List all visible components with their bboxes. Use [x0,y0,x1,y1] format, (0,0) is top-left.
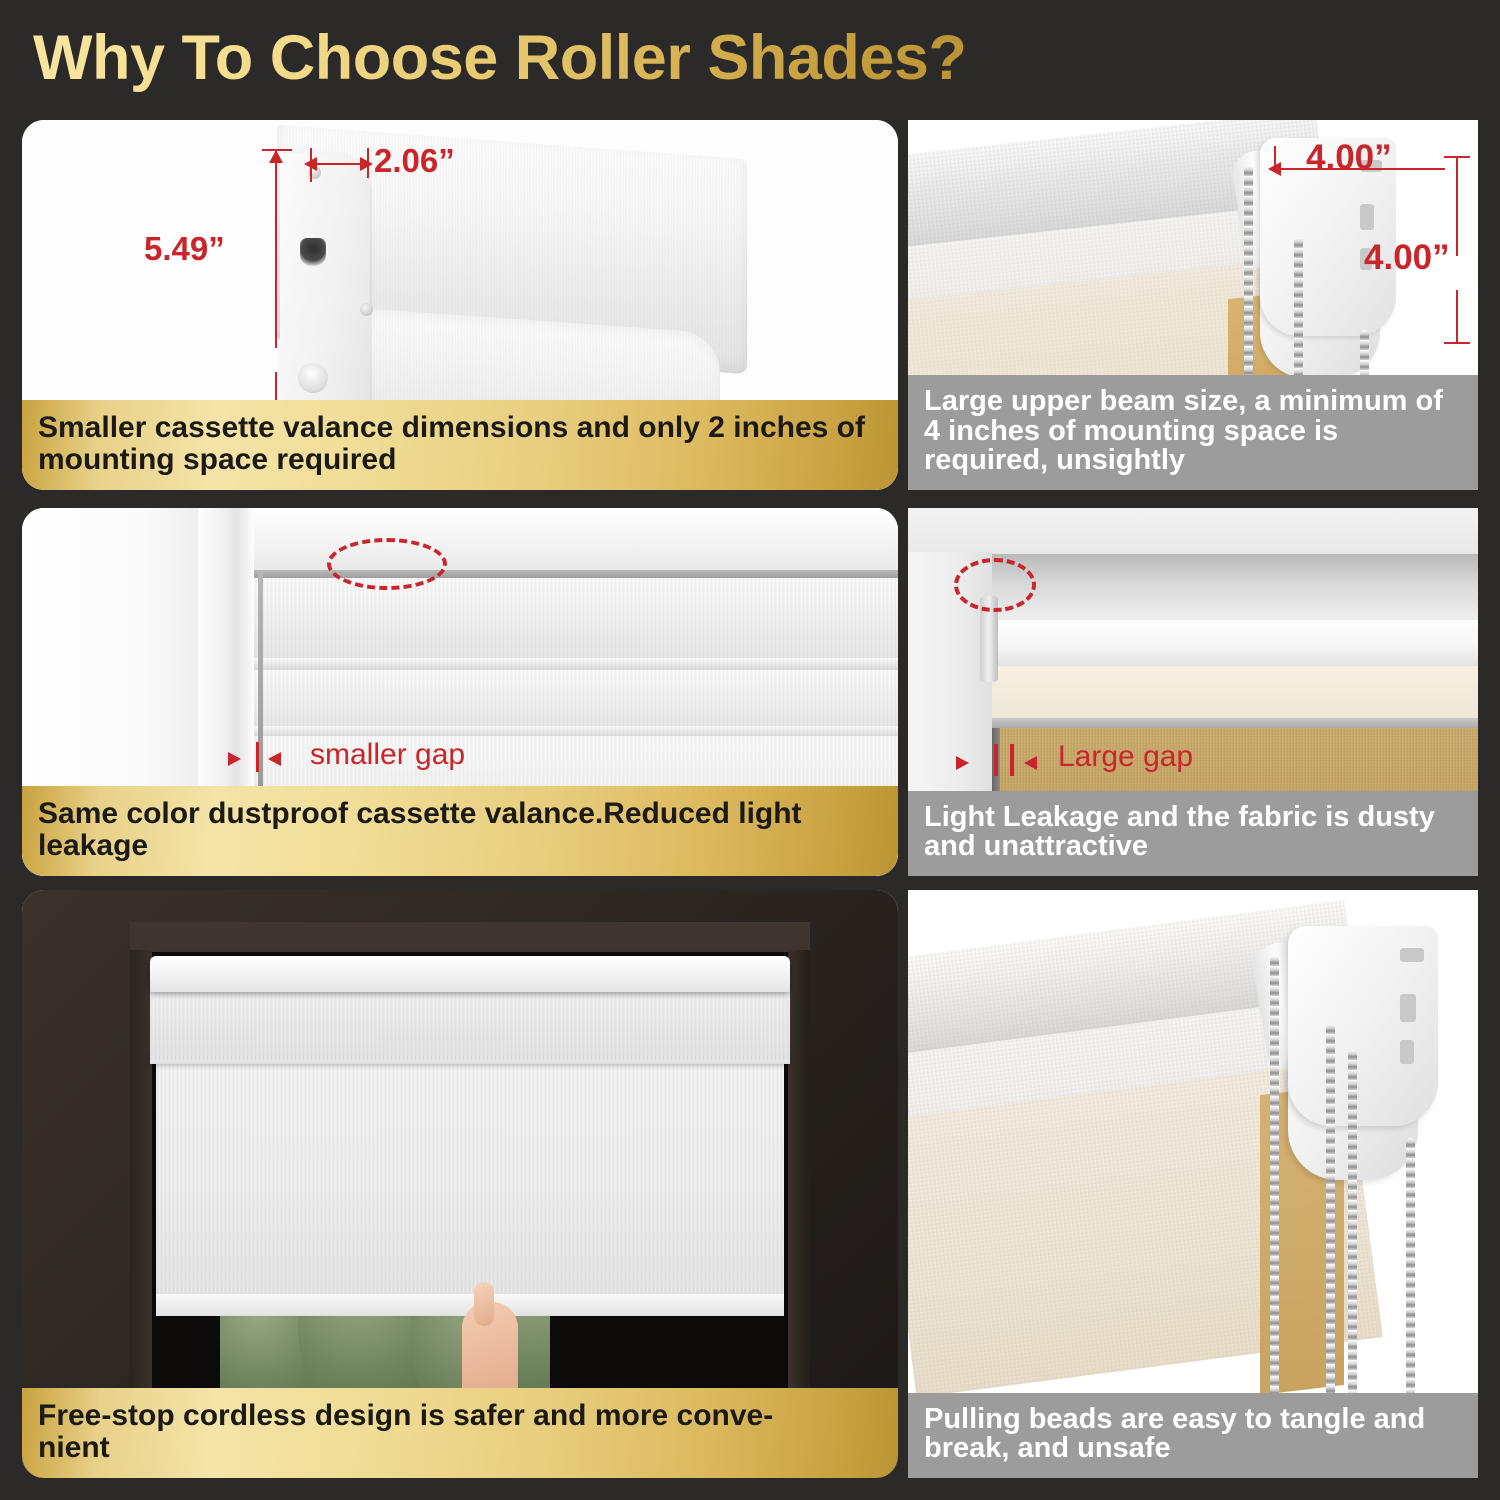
roller-shade-fabric [156,1062,784,1302]
panel-pro-smaller-gap: smaller gap Same color dustproof cassett… [22,508,898,876]
dimension-label-beam-width: 4.00” [1306,138,1392,178]
gap-label-large: Large gap [1058,740,1193,774]
highlight-ellipse [327,538,447,590]
panel-con-pulling-beads: Pulling beads are easy to tangle and bre… [908,890,1478,1478]
photo-pulling-beads [908,890,1478,1478]
bead-chain [1270,956,1279,1416]
infographic-root: Why To Choose Roller Shades? 2.06” [0,0,1500,1500]
caption-pro-cordless-design: Free-stop cordless design is safer and m… [22,1388,898,1478]
cassette-slot-icon [300,238,326,266]
caption-con-large-upper-beam: Large upper beam size, a minimum of 4 in… [908,375,1478,490]
cassette-headrail [150,956,790,992]
dimension-label-height: 5.49” [144,230,225,268]
panel-pro-cassette-dimensions: 2.06” 5.49” Smaller cassette valance dim… [22,120,898,490]
gap-label-smaller: smaller gap [310,738,465,772]
caption-con-pulling-beads: Pulling beads are easy to tangle and bre… [908,1393,1478,1478]
bead-chain [1406,1138,1415,1416]
caption-pro-cassette-dimensions: Smaller cassette valance dimensions and … [22,400,898,490]
caption-pro-smaller-gap: Same color dustproof cassette valance.Re… [22,786,898,876]
dimension-label-beam-height: 4.00” [1364,238,1450,278]
panel-con-large-upper-beam: 4.00” 4.00” Large upper beam size, a min… [908,120,1478,490]
panel-con-large-gap: Large gap Light Leakage and the fabric i… [908,508,1478,876]
dimension-label-width: 2.06” [374,142,455,180]
page-title: Why To Choose Roller Shades? [33,22,966,94]
highlight-ellipse [954,558,1036,612]
panel-pro-cordless-design: Free-stop cordless design is safer and m… [22,890,898,1478]
bead-chain [1326,1024,1335,1416]
caption-con-large-gap: Light Leakage and the fabric is dusty an… [908,791,1478,876]
bead-chain [1348,1050,1357,1416]
